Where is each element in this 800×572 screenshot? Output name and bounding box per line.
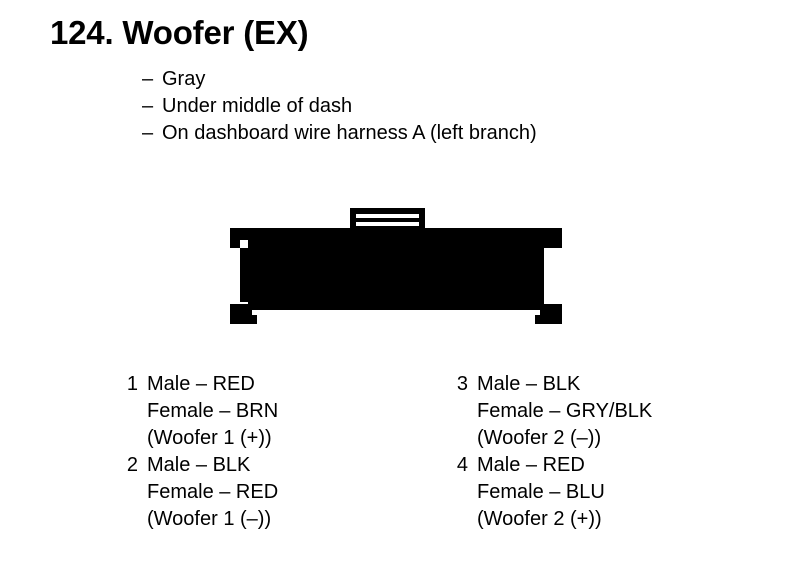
description-item: – Gray: [142, 66, 537, 93]
legend-circuit: (Woofer 2 (–)): [477, 425, 652, 452]
legend-entry: 1 Male – RED Female – BRN (Woofer 1 (+)): [114, 371, 278, 452]
legend-male-wire: Male – RED: [477, 452, 605, 479]
legend-female-wire: Female – GRY/BLK: [477, 398, 652, 425]
description-text: On dashboard wire harness A (left branch…: [162, 120, 537, 147]
cavity-label-2: 2: [349, 261, 360, 282]
cavity-label-1: 1: [280, 261, 291, 282]
page-title: 124. Woofer (EX): [50, 14, 308, 52]
legend-entry: 4 Male – RED Female – BLU (Woofer 2 (+)): [444, 452, 652, 533]
legend-pin-number: 3: [444, 371, 477, 398]
description-text: Under middle of dash: [162, 93, 352, 120]
legend-pin-number: 4: [444, 452, 477, 479]
legend-male-wire: Male – BLK: [477, 371, 652, 398]
legend-column-right: 3 Male – BLK Female – GRY/BLK (Woofer 2 …: [444, 371, 652, 533]
legend-female-wire: Female – RED: [147, 479, 278, 506]
legend-column-left: 1 Male – RED Female – BRN (Woofer 1 (+))…: [114, 371, 278, 533]
latch-tab-icon: [350, 208, 425, 230]
legend-pin-number: 2: [114, 452, 147, 479]
description-list: – Gray – Under middle of dash – On dashb…: [142, 66, 537, 147]
description-item: – On dashboard wire harness A (left bran…: [142, 120, 537, 147]
dash-bullet-icon: –: [142, 93, 162, 120]
legend-circuit: (Woofer 2 (+)): [477, 506, 605, 533]
legend-female-wire: Female – BLU: [477, 479, 605, 506]
description-item: – Under middle of dash: [142, 93, 537, 120]
legend-pin-number: 1: [114, 371, 147, 398]
legend-circuit: (Woofer 1 (+)): [147, 425, 278, 452]
cavity-label-3: 3: [420, 261, 431, 282]
legend-circuit: (Woofer 1 (–)): [147, 506, 278, 533]
cavity-label-4: 4: [491, 261, 502, 282]
dash-bullet-icon: –: [142, 66, 162, 93]
legend-entry: 2 Male – BLK Female – RED (Woofer 1 (–)): [114, 452, 278, 533]
legend-female-wire: Female – BRN: [147, 398, 278, 425]
connector-diagram: 1 2 3 4: [228, 200, 564, 326]
legend-male-wire: Male – BLK: [147, 452, 278, 479]
description-text: Gray: [162, 66, 205, 93]
legend-entry: 3 Male – BLK Female – GRY/BLK (Woofer 2 …: [444, 371, 652, 452]
dash-bullet-icon: –: [142, 120, 162, 147]
legend-male-wire: Male – RED: [147, 371, 278, 398]
